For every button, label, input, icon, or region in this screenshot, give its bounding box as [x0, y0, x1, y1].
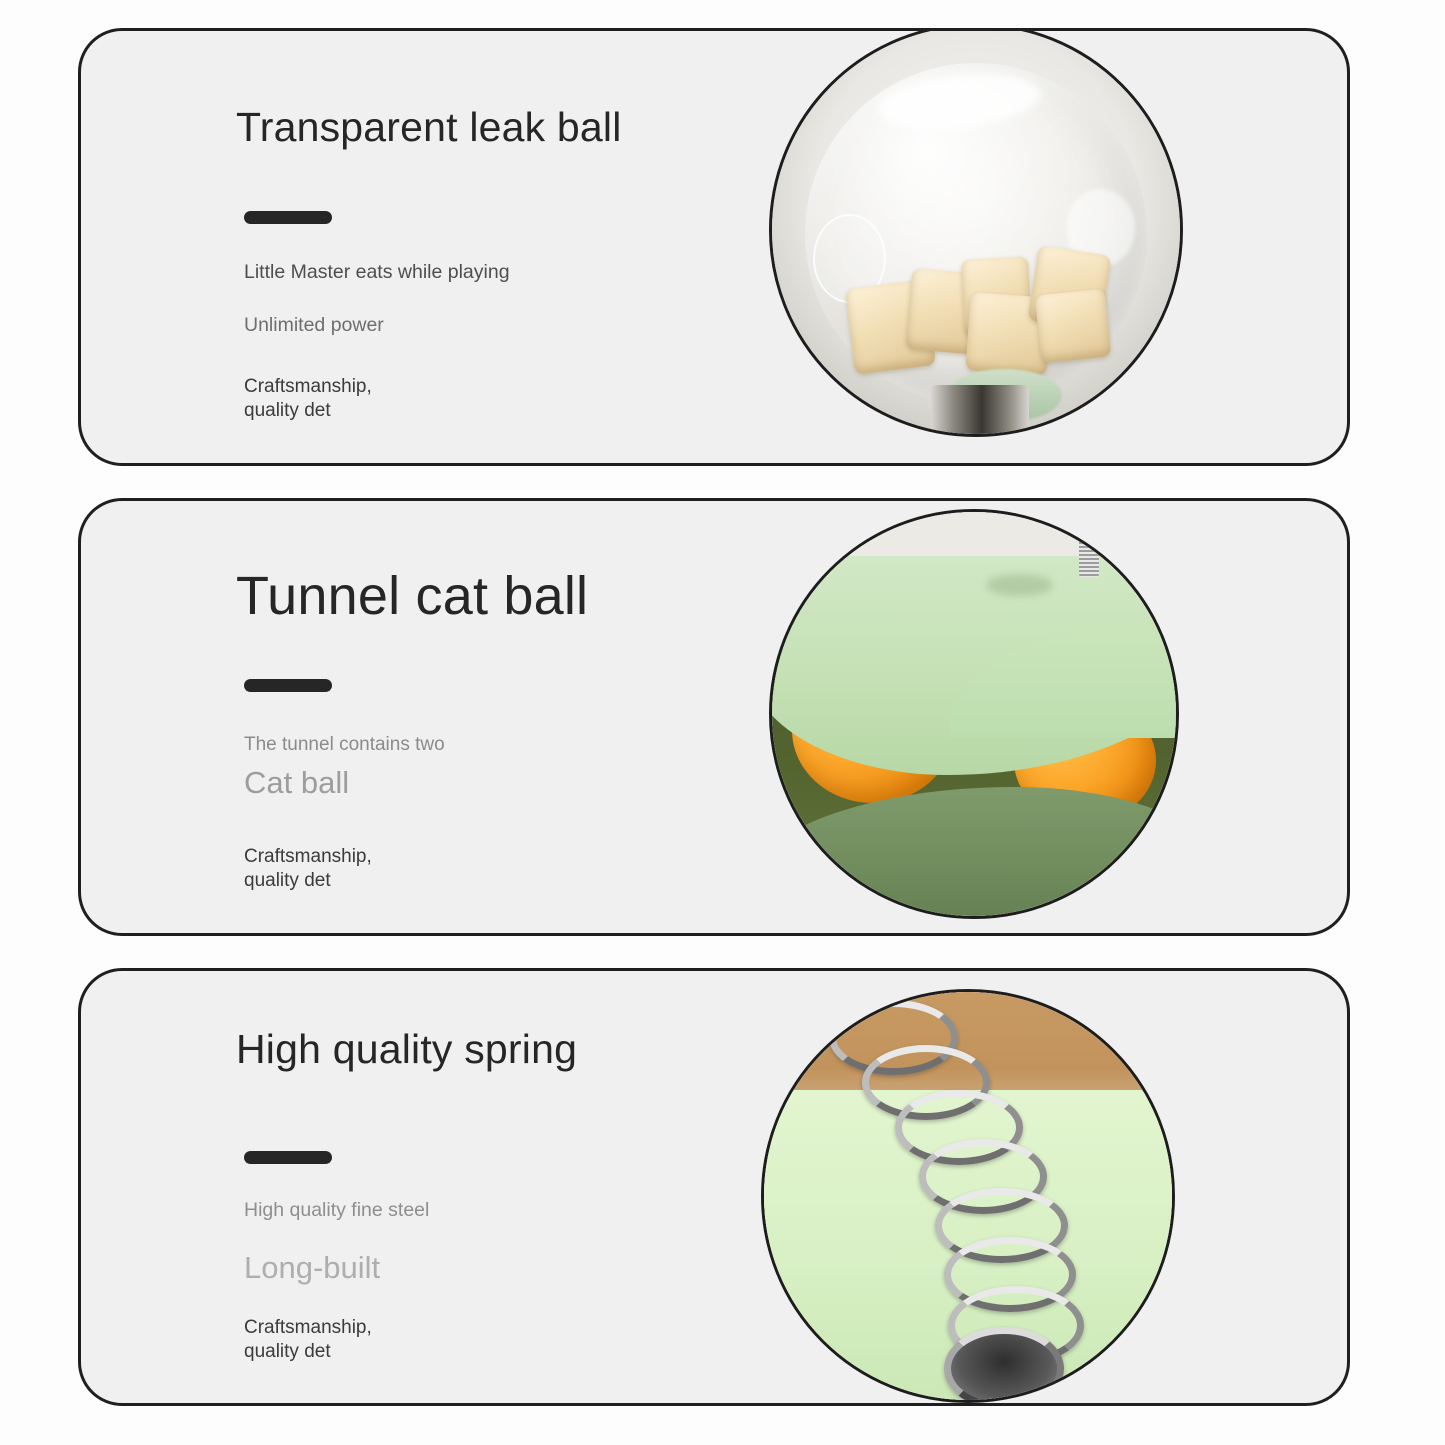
photo-scene [772, 28, 1180, 434]
transparent-treat-ball-photo [769, 28, 1183, 437]
spring-coil-base [944, 1327, 1064, 1403]
product-feature-page: Transparent leak ball Little Master eats… [0, 0, 1445, 1445]
title-underline-dash [244, 1151, 332, 1164]
photo-scene [772, 512, 1176, 916]
craftsmanship-note: Craftsmanship, quality det [244, 1316, 544, 1364]
feature-primary-text: Little Master eats while playing [244, 261, 574, 285]
card-title: Tunnel cat ball [236, 569, 588, 623]
metal-neck [931, 385, 1029, 437]
feature-secondary-text: Unlimited power [244, 314, 574, 338]
feature-primary-text: High quality fine steel [244, 1199, 574, 1223]
feature-primary-text: The tunnel contains two [244, 733, 574, 756]
tunnel-with-orange-balls-photo [769, 509, 1179, 919]
feature-secondary-text: Cat ball [244, 763, 574, 803]
shell-shadow-dip [986, 574, 1053, 596]
title-underline-dash [244, 211, 332, 224]
photo-scene [764, 992, 1172, 1400]
metal-spring-coil-photo [761, 989, 1175, 1403]
card-text-column: High quality spring High quality fine st… [236, 971, 756, 1403]
card-text-column: Transparent leak ball Little Master eats… [236, 31, 756, 463]
card-title: High quality spring [236, 1029, 577, 1070]
title-underline-dash [244, 679, 332, 692]
craftsmanship-note: Craftsmanship, quality det [244, 375, 544, 423]
treat-cube [1035, 289, 1112, 364]
card-text-column: Tunnel cat ball The tunnel contains two … [236, 501, 756, 933]
feature-card-tunnel-cat-ball[interactable]: Tunnel cat ball The tunnel contains two … [78, 498, 1350, 936]
craftsmanship-note: Craftsmanship, quality det [244, 845, 544, 893]
treat-pile [850, 250, 1119, 381]
feature-card-transparent-leak-ball[interactable]: Transparent leak ball Little Master eats… [78, 28, 1350, 466]
feature-secondary-text: Long-built [244, 1248, 574, 1288]
spring-stub-icon [1079, 528, 1099, 576]
card-title: Transparent leak ball [236, 107, 622, 148]
feature-card-high-quality-spring[interactable]: High quality spring High quality fine st… [78, 968, 1350, 1406]
